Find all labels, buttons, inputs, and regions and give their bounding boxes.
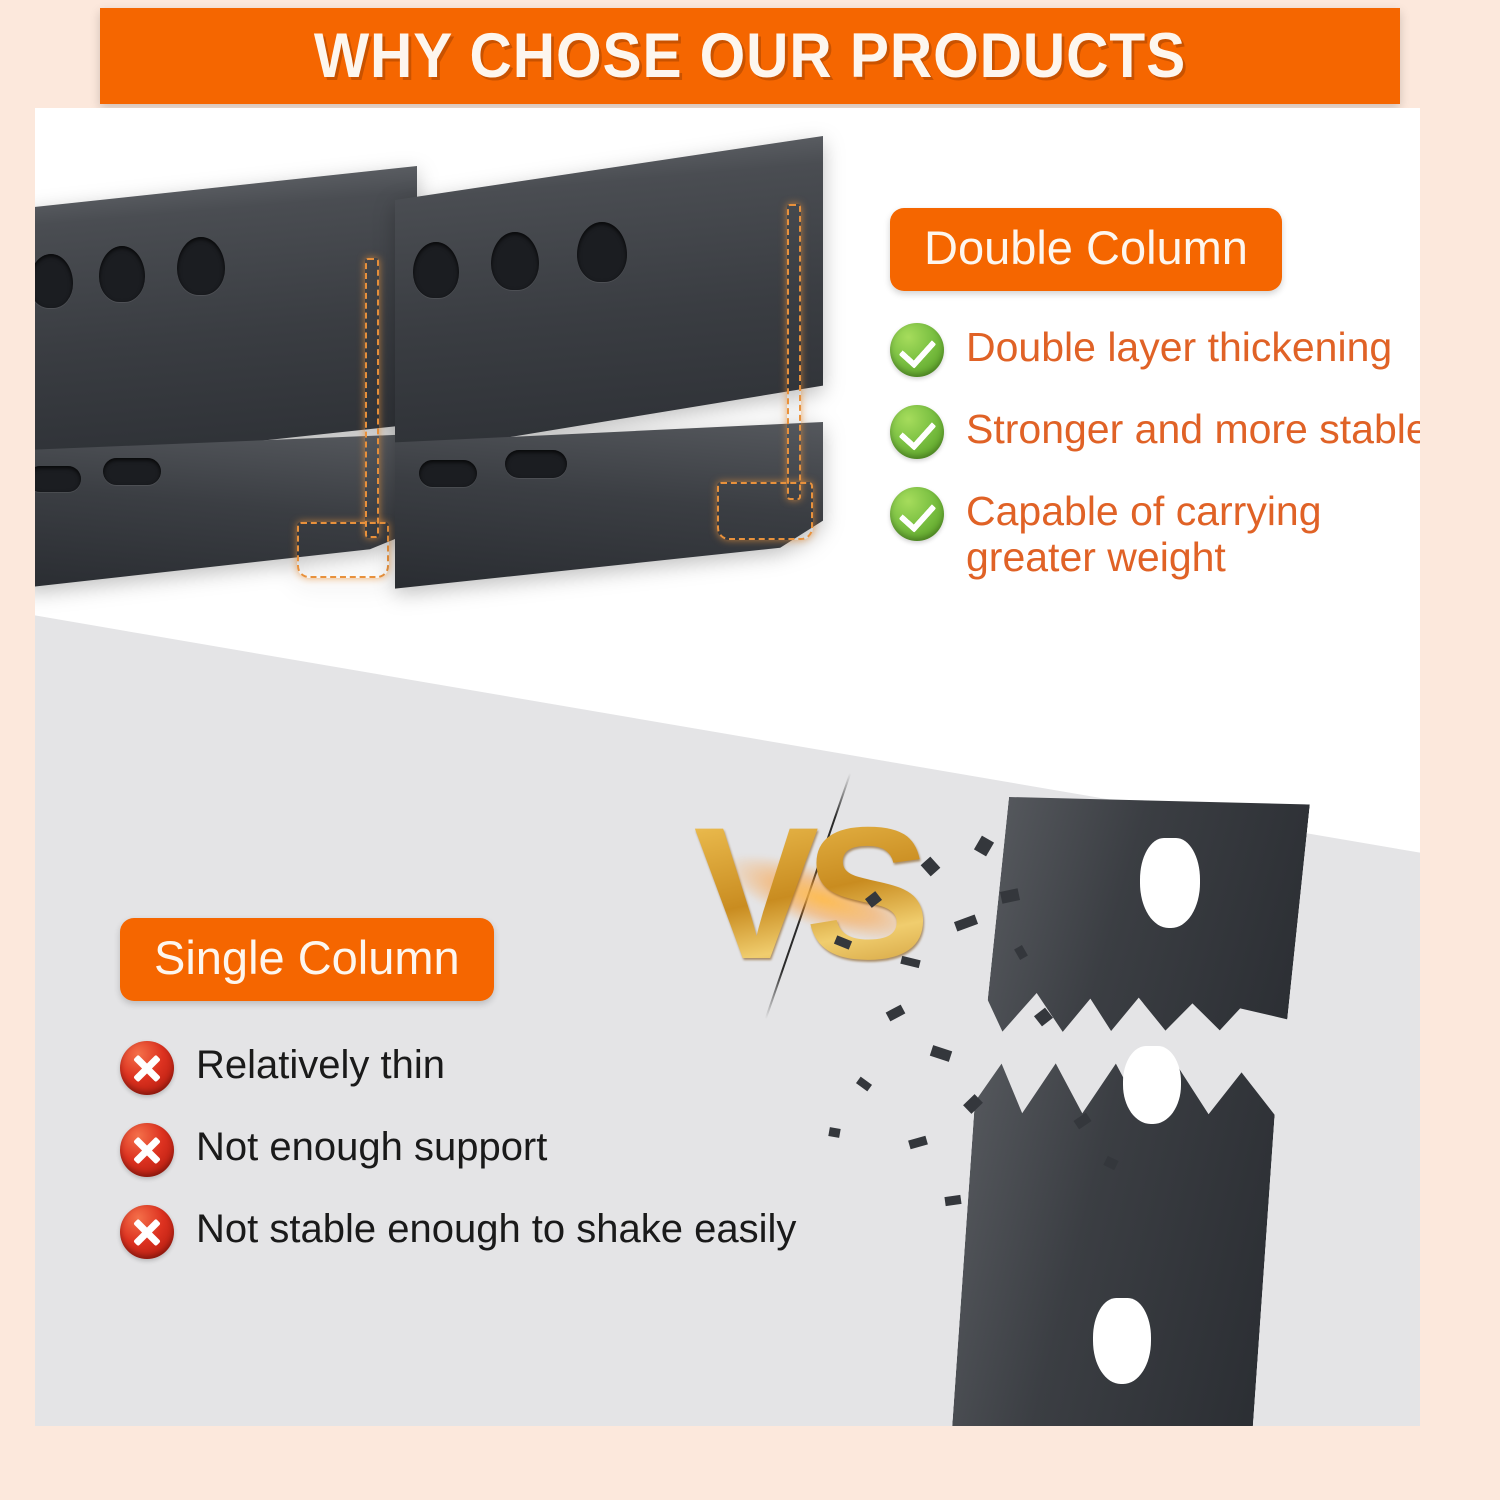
green-check-icon: [890, 405, 944, 459]
list-item: Relatively thin: [120, 1041, 920, 1095]
keyhole-slot: [1093, 1298, 1151, 1384]
green-check-icon: [890, 323, 944, 377]
double-column-section: Double Column Double layer thickening St…: [890, 208, 1420, 609]
beam-left: [35, 166, 425, 596]
keyhole-slot: [1140, 838, 1200, 928]
list-item: Double layer thickening: [890, 323, 1420, 377]
benefit-label: Stronger and more stable: [966, 405, 1420, 453]
single-column-section: Single Column Relatively thin Not enough…: [120, 918, 920, 1287]
beam-right: [395, 136, 825, 606]
red-cross-icon: [120, 1123, 174, 1177]
infographic-root: WHY CHOSE OUR PRODUCTS: [0, 0, 1500, 1500]
header-banner: WHY CHOSE OUR PRODUCTS: [100, 8, 1400, 104]
drawback-label: Not stable enough to shake easily: [196, 1205, 796, 1252]
page-title: WHY CHOSE OUR PRODUCTS: [314, 20, 1186, 92]
drawback-label: Relatively thin: [196, 1041, 445, 1088]
double-column-benefit-list: Double layer thickening Stronger and mor…: [890, 323, 1420, 581]
red-cross-icon: [120, 1041, 174, 1095]
benefit-label: Double layer thickening: [966, 323, 1392, 371]
content-canvas: Double Column Double layer thickening St…: [35, 108, 1420, 1426]
drawback-label: Not enough support: [196, 1123, 547, 1170]
red-cross-icon: [120, 1205, 174, 1259]
list-item: Stronger and more stable: [890, 405, 1420, 459]
broken-post-image: [805, 798, 1420, 1426]
list-item: Not enough support: [120, 1123, 920, 1177]
list-item: Capable of carrying greater weight: [890, 487, 1420, 581]
double-column-beam-image: [35, 126, 825, 626]
single-column-badge: Single Column: [120, 918, 494, 1001]
green-check-icon: [890, 487, 944, 541]
keyhole-slot: [1123, 1046, 1181, 1124]
double-column-badge: Double Column: [890, 208, 1282, 291]
benefit-label: Capable of carrying greater weight: [966, 487, 1322, 581]
list-item: Not stable enough to shake easily: [120, 1205, 920, 1259]
single-column-drawback-list: Relatively thin Not enough support Not s…: [120, 1041, 920, 1259]
